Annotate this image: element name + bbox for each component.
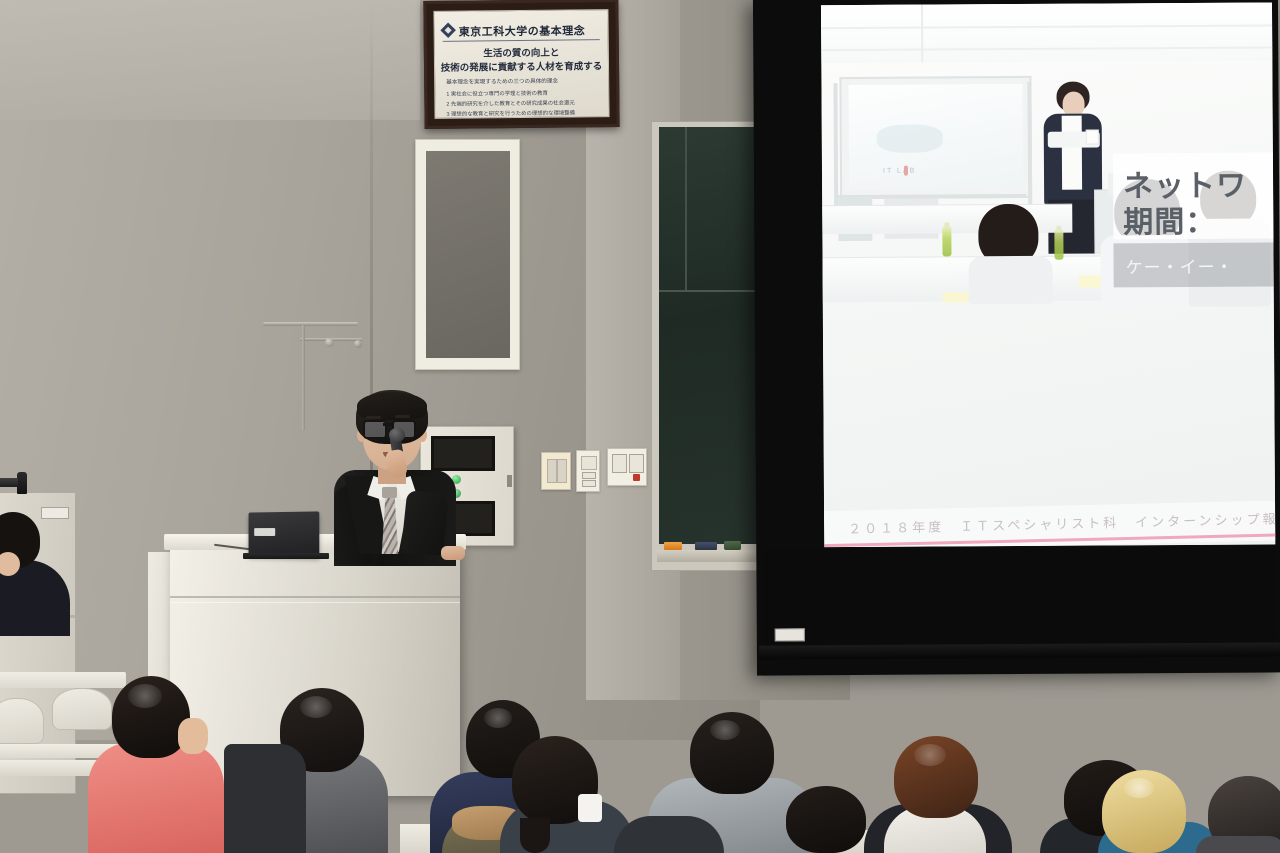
pp-presenter-shirt (1062, 116, 1082, 190)
cabinet-label (41, 507, 69, 519)
speaker-brow-right (395, 415, 410, 418)
thermostat-display (581, 456, 597, 470)
wall-speaker-panel (415, 139, 520, 370)
pp-presenter-nametag (1086, 129, 1099, 144)
audience-4-hair-highlight (484, 708, 512, 728)
plaque-heading: 東京工科大学の基本理念 (459, 22, 602, 39)
rail-bracket-knob-2 (354, 340, 362, 348)
plaque-item-1: 1 実社会に役立つ専門の学理と技術の教育 (446, 89, 548, 98)
board-eraser[interactable] (724, 541, 741, 550)
equipment-on-cabinet (17, 472, 27, 494)
speaker-grille-icon (426, 151, 510, 358)
chalk-orange[interactable] (664, 542, 682, 550)
chalkboard-frame (651, 121, 770, 571)
chalk-blue[interactable] (695, 542, 717, 550)
chalkboard-panel-edge (685, 127, 687, 290)
chalkboard-seam (659, 290, 763, 292)
side-desk-left-1 (0, 672, 126, 688)
curtain-rail (263, 322, 358, 326)
screen-lower-border (762, 546, 1276, 645)
audience-6-ponytail (520, 818, 550, 853)
pp-ceiling-rail (921, 5, 923, 63)
projection-screen: IT LAB (753, 0, 1280, 676)
laptop-keyboard-base[interactable] (243, 553, 329, 559)
pp-subtitle-text: ケー・イー・ (1125, 253, 1233, 279)
university-emblem-icon (440, 22, 456, 38)
pp-subtitle-box: ケー・イー・ (1113, 242, 1273, 287)
plaque-line-2: 技術の発展に貢献する人材を育成する (435, 58, 608, 74)
pp-footer-text: ２０１８年度 ＩＴスペシャリスト科 インターンシップ報告会 (848, 508, 1275, 538)
wall-upper-highlight (0, 0, 420, 120)
audience-2-hands (178, 718, 208, 754)
audience-12-shoulders (1196, 836, 1280, 853)
glasses-bridge-icon (383, 423, 392, 426)
pp-bottle-2 (1054, 230, 1063, 260)
lecture-hall-photo: 東京工科大学の基本理念 生活の質の向上と 技術の発展に貢献する人材を育成する 基… (0, 0, 1280, 853)
audience-7-hair-highlight (710, 720, 740, 740)
projected-image: IT LAB (821, 2, 1275, 547)
light-switch-rocker-1[interactable] (547, 459, 557, 483)
audience-3-hair-highlight (300, 696, 332, 718)
speaker-hand-on-podium (441, 546, 465, 560)
pp-caption-box: ネットワ 期間： (1113, 152, 1274, 239)
av-control-panel[interactable] (607, 448, 647, 486)
pp-bottle-1 (942, 226, 951, 256)
podium-seam (170, 596, 460, 598)
pp-note-paper-2 (943, 292, 969, 302)
av-indicator-red-icon (633, 474, 640, 481)
av-button-1[interactable] (612, 454, 627, 473)
equipment-box-on-cabinet (0, 478, 18, 487)
speaker-tie-knot (382, 487, 397, 498)
chalk-ledge (657, 550, 764, 562)
seat-back-left-1 (0, 698, 44, 744)
cabinet-hinge (507, 475, 512, 487)
audience-8-shoulders (614, 816, 724, 853)
light-switch-plate[interactable] (541, 452, 571, 490)
laptop-sticker (254, 528, 275, 536)
plaque-item-2: 2 先端的研究を介した教育とその研究成果の社会還元 (446, 98, 574, 107)
thermostat-panel[interactable] (576, 450, 600, 492)
thermostat-button-1[interactable] (582, 472, 596, 479)
face-mask (578, 794, 602, 822)
speaker-right-arm (401, 490, 449, 556)
av-button-2[interactable] (629, 454, 644, 473)
audience-9-hair-highlight (914, 744, 946, 766)
audience-8-head (786, 786, 866, 853)
screen-brand-label (775, 628, 805, 641)
podium-seam-highlight (170, 602, 460, 603)
pp-whiteboard-surface: IT LAB (848, 84, 1023, 189)
audience-2-hair-highlight (128, 684, 162, 708)
laptop-screen[interactable] (249, 511, 320, 556)
chalkboard-surface (659, 127, 763, 544)
pp-slide-logo-mark-icon (904, 166, 908, 176)
speaker-brow-left (366, 416, 381, 419)
pp-attendee-1-body (969, 256, 1053, 305)
cabinet-window-upper (431, 436, 495, 471)
plaque-inner: 東京工科大学の基本理念 生活の質の向上と 技術の発展に貢献する人材を育成する 基… (433, 9, 609, 119)
pp-slide-logo: IT LAB (883, 168, 916, 175)
seat-back-left-2 (52, 688, 112, 730)
plaque-item-3: 3 理想的な教育と研究を行うための理想的な環境整備 (446, 108, 575, 117)
audience-2-shoulders (88, 742, 224, 853)
rail-bracket-knob (325, 338, 334, 347)
audience-11-hair-highlight (1124, 778, 1154, 798)
thermostat-button-2[interactable] (582, 480, 596, 487)
pp-whiteboard: IT LAB (839, 76, 1032, 199)
audience-3-bag (224, 744, 306, 853)
curtain-rail-vertical (302, 325, 305, 430)
screen-weight-bar (759, 642, 1280, 659)
light-switch-rocker-2[interactable] (557, 459, 567, 483)
microphone-head-icon (389, 428, 405, 442)
pp-slide-graphic (877, 124, 943, 152)
pp-ceiling (821, 2, 1272, 63)
pp-caption-line-2: 期間： (1123, 197, 1216, 242)
university-philosophy-plaque: 東京工科大学の基本理念 生活の質の向上と 技術の発展に貢献する人材を育成する 基… (423, 0, 619, 129)
plaque-subheading: 基本理念を実現するための三つの具体的理念 (446, 77, 558, 86)
